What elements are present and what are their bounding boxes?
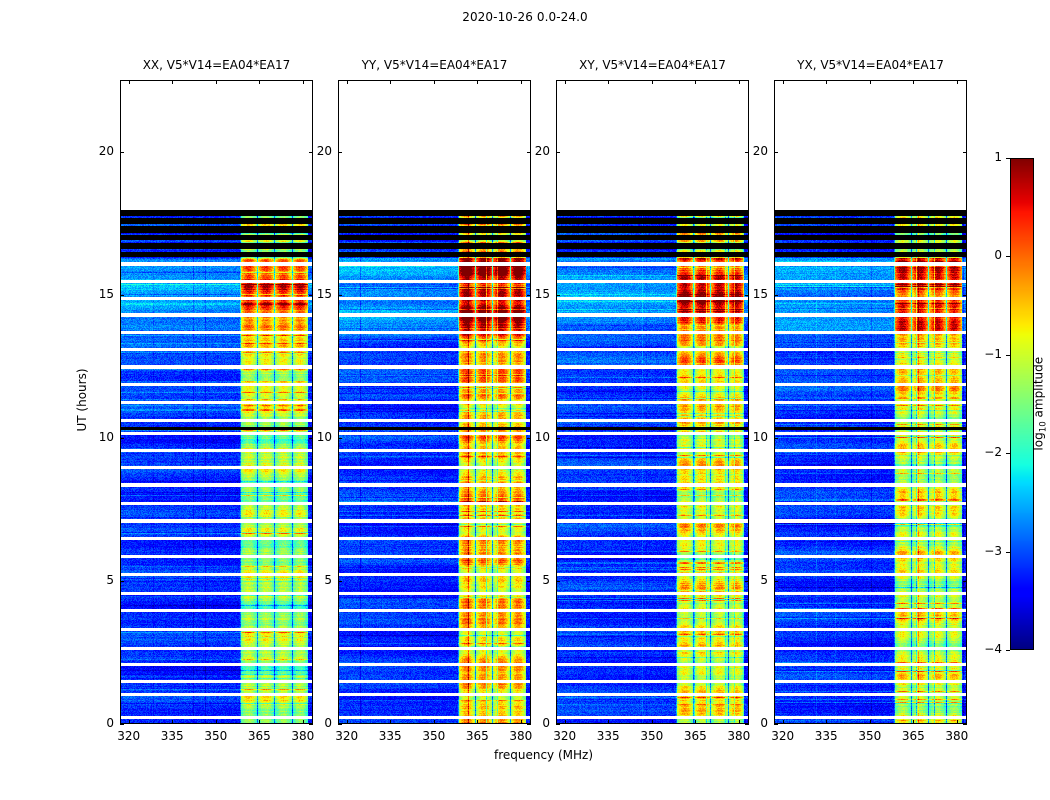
y-tick-label: 15 — [732, 287, 768, 301]
y-tick-mark — [338, 581, 342, 582]
colorbar-tick-mark — [1006, 552, 1010, 553]
x-tick-mark-top — [477, 80, 478, 84]
x-tick-mark-top — [652, 80, 653, 84]
x-tick-label: 380 — [719, 729, 759, 743]
colorbar-tick-label: −1 — [962, 347, 1002, 361]
x-tick-mark-top — [957, 80, 958, 84]
colorbar-title: log10 amplitude — [1031, 334, 1048, 474]
x-tick-label: 335 — [588, 729, 628, 743]
x-tick-mark — [216, 720, 217, 724]
y-tick-mark — [556, 295, 560, 296]
x-tick-mark — [695, 720, 696, 724]
x-tick-mark-top — [826, 80, 827, 84]
y-tick-mark — [120, 724, 124, 725]
waterfall-panel-xy[interactable] — [556, 80, 749, 724]
waterfall-panel-yy[interactable] — [338, 80, 531, 724]
y-tick-mark — [120, 581, 124, 582]
x-tick-label: 335 — [370, 729, 410, 743]
x-tick-mark-top — [172, 80, 173, 84]
colorbar-tick-label: 0 — [962, 248, 1002, 262]
figure-suptitle: 2020-10-26 0.0-24.0 — [0, 10, 1050, 24]
y-tick-mark — [774, 438, 778, 439]
y-tick-label: 5 — [296, 573, 332, 587]
colorbar-tick-label: −2 — [962, 445, 1002, 459]
x-tick-mark-top — [695, 80, 696, 84]
colorbar-tick-mark — [1006, 453, 1010, 454]
y-tick-label: 5 — [514, 573, 550, 587]
x-tick-mark-top — [913, 80, 914, 84]
y-tick-label: 10 — [732, 430, 768, 444]
y-tick-mark — [556, 581, 560, 582]
x-tick-mark-top — [739, 80, 740, 84]
colorbar-tick-label: 1 — [962, 150, 1002, 164]
panel-title-yx: YX, V5*V14=EA04*EA17 — [734, 58, 1007, 72]
waterfall-image-xy — [557, 81, 749, 724]
x-tick-label: 320 — [327, 729, 367, 743]
y-tick-label: 5 — [732, 573, 768, 587]
y-tick-label: 0 — [732, 716, 768, 730]
y-tick-label: 0 — [78, 716, 114, 730]
x-tick-mark — [608, 720, 609, 724]
x-tick-label: 320 — [109, 729, 149, 743]
x-tick-label: 365 — [457, 729, 497, 743]
y-tick-mark — [338, 724, 342, 725]
y-tick-mark — [338, 152, 342, 153]
x-tick-mark-top — [434, 80, 435, 84]
colorbar-tick-mark — [1006, 650, 1010, 651]
y-tick-mark — [338, 438, 342, 439]
waterfall-image-xx — [121, 81, 313, 724]
colorbar-tick-mark — [1006, 355, 1010, 356]
y-axis-label: UT (hours) — [75, 340, 89, 460]
x-tick-mark-top — [347, 80, 348, 84]
y-tick-mark — [120, 152, 124, 153]
y-tick-mark-right — [963, 724, 967, 725]
y-tick-label: 5 — [78, 573, 114, 587]
y-tick-mark — [556, 724, 560, 725]
x-tick-mark-top — [129, 80, 130, 84]
x-tick-mark — [434, 720, 435, 724]
colorbar-tick-mark — [1006, 256, 1010, 257]
y-tick-mark-right — [963, 438, 967, 439]
y-tick-label: 15 — [514, 287, 550, 301]
x-tick-mark-top — [390, 80, 391, 84]
x-tick-label: 350 — [850, 729, 890, 743]
y-tick-label: 20 — [732, 144, 768, 158]
y-tick-label: 20 — [78, 144, 114, 158]
y-tick-label: 20 — [514, 144, 550, 158]
x-tick-label: 350 — [632, 729, 672, 743]
x-tick-label: 380 — [283, 729, 323, 743]
x-tick-label: 320 — [763, 729, 803, 743]
waterfall-image-yx — [775, 81, 967, 724]
x-tick-mark — [390, 720, 391, 724]
x-tick-mark — [826, 720, 827, 724]
x-tick-mark — [477, 720, 478, 724]
colorbar-tick-label: −3 — [962, 544, 1002, 558]
waterfall-image-yy — [339, 81, 531, 724]
y-tick-mark — [774, 295, 778, 296]
y-tick-label: 15 — [296, 287, 332, 301]
waterfall-panel-yx[interactable] — [774, 80, 967, 724]
x-tick-mark-top — [565, 80, 566, 84]
x-tick-label: 365 — [239, 729, 279, 743]
y-tick-mark-right — [963, 295, 967, 296]
colorbar-tick-label: −4 — [962, 642, 1002, 656]
x-tick-mark-top — [521, 80, 522, 84]
x-tick-mark — [913, 720, 914, 724]
y-tick-label: 15 — [78, 287, 114, 301]
x-tick-mark — [129, 720, 130, 724]
x-tick-mark — [172, 720, 173, 724]
x-tick-mark — [347, 720, 348, 724]
y-tick-mark — [556, 152, 560, 153]
x-tick-mark-top — [608, 80, 609, 84]
x-tick-mark-top — [870, 80, 871, 84]
y-tick-label: 10 — [514, 430, 550, 444]
y-tick-mark-right — [963, 581, 967, 582]
x-tick-mark — [565, 720, 566, 724]
y-tick-mark — [556, 438, 560, 439]
y-tick-mark — [120, 295, 124, 296]
x-tick-mark-top — [783, 80, 784, 84]
x-tick-mark-top — [216, 80, 217, 84]
x-tick-mark — [870, 720, 871, 724]
x-tick-label: 350 — [414, 729, 454, 743]
x-tick-label: 350 — [196, 729, 236, 743]
x-axis-label: frequency (MHz) — [120, 748, 967, 762]
x-tick-mark — [652, 720, 653, 724]
y-tick-label: 0 — [514, 716, 550, 730]
colorbar-tick-mark — [1006, 158, 1010, 159]
x-tick-label: 380 — [937, 729, 977, 743]
waterfall-panel-xx[interactable] — [120, 80, 313, 724]
x-tick-label: 365 — [893, 729, 933, 743]
y-tick-mark — [774, 581, 778, 582]
y-tick-mark — [774, 724, 778, 725]
x-tick-label: 365 — [675, 729, 715, 743]
y-tick-label: 10 — [296, 430, 332, 444]
x-tick-mark — [957, 720, 958, 724]
x-tick-mark-top — [259, 80, 260, 84]
figure-canvas: 2020-10-26 0.0-24.0 XX, V5*V14=EA04*EA17… — [0, 0, 1050, 800]
x-tick-label: 335 — [152, 729, 192, 743]
x-tick-mark — [783, 720, 784, 724]
y-tick-label: 20 — [296, 144, 332, 158]
y-tick-label: 0 — [296, 716, 332, 730]
y-tick-mark — [774, 152, 778, 153]
y-tick-mark — [338, 295, 342, 296]
x-tick-label: 335 — [806, 729, 846, 743]
x-tick-mark — [259, 720, 260, 724]
x-tick-label: 380 — [501, 729, 541, 743]
x-tick-label: 320 — [545, 729, 585, 743]
x-tick-mark-top — [303, 80, 304, 84]
y-tick-mark — [120, 438, 124, 439]
